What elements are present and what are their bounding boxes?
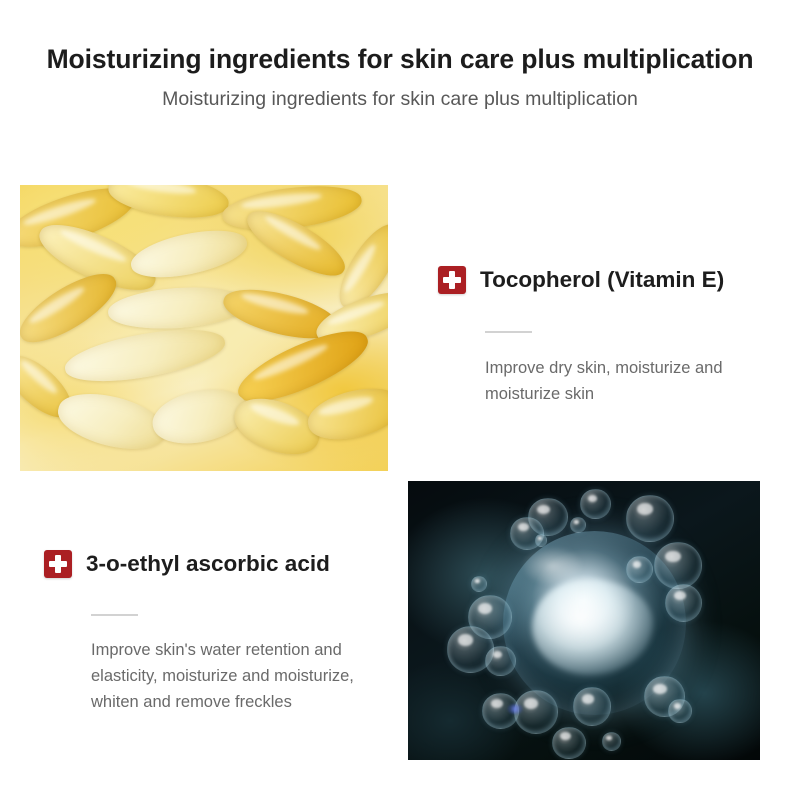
ingredient-divider xyxy=(91,614,138,616)
red-plus-icon xyxy=(438,266,466,294)
bubbles-photo xyxy=(408,481,760,760)
ingredient-title: 3-o-ethyl ascorbic acid xyxy=(86,550,330,578)
ingredient-divider xyxy=(485,331,532,333)
ingredient-tocopherol: Tocopherol (Vitamin E) Improve dry skin,… xyxy=(438,266,751,407)
bubble-shape xyxy=(602,732,622,751)
ingredient-description: Improve skin's water retention and elast… xyxy=(91,637,377,715)
red-plus-icon xyxy=(44,550,72,578)
ingredient-description: Improve dry skin, moisturize and moistur… xyxy=(485,355,751,407)
capsules-photo xyxy=(20,185,388,471)
ingredient-ascorbic-acid: 3-o-ethyl ascorbic acid Improve skin's w… xyxy=(44,550,377,715)
blue-spark-highlight xyxy=(507,704,523,714)
page-title: Moisturizing ingredients for skin care p… xyxy=(0,42,800,76)
bubble-shape xyxy=(552,727,586,760)
ingredient-header: Tocopherol (Vitamin E) xyxy=(438,266,751,294)
page-header: Moisturizing ingredients for skin care p… xyxy=(0,42,800,112)
ingredient-title: Tocopherol (Vitamin E) xyxy=(480,266,724,294)
bubble-shape xyxy=(485,646,515,676)
bubble-shape xyxy=(626,495,674,542)
bubble-shape xyxy=(573,687,610,725)
bubble-shape xyxy=(654,542,702,589)
bubble-shape xyxy=(580,489,610,519)
bubble-shape xyxy=(668,699,691,723)
ingredient-header: 3-o-ethyl ascorbic acid xyxy=(44,550,377,578)
page-subtitle: Moisturizing ingredients for skin care p… xyxy=(0,86,800,112)
product-info-page: Moisturizing ingredients for skin care p… xyxy=(0,0,800,800)
